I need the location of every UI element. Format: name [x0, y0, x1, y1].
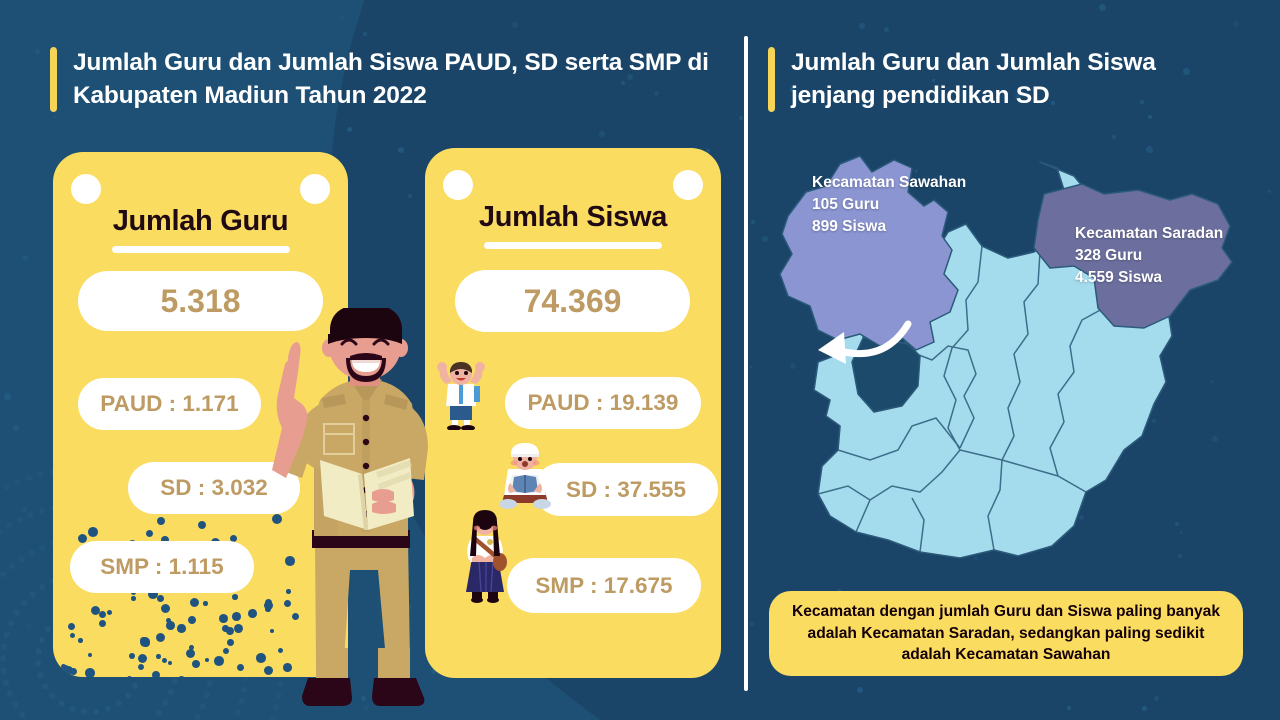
map-callout-sawahan: Kecamatan Sawahan 105 Guru 899 Siswa [812, 172, 966, 238]
siswa-smp-value: SMP : 17.675 [507, 558, 701, 613]
punch-hole-left-icon [71, 174, 101, 204]
saradan-district-name: Kecamatan Saradan [1075, 223, 1223, 245]
title-accent-bar [50, 47, 57, 112]
punch-hole-right-icon [673, 170, 703, 200]
card-heading: Jumlah Siswa [425, 201, 721, 234]
smp-student-illustration-icon [456, 508, 514, 603]
guru-smp-value: SMP : 1.115 [70, 541, 254, 593]
right-panel-title: Jumlah Guru dan Jumlah Siswa jenjang pen… [768, 47, 1238, 112]
heading-underline [484, 242, 662, 249]
saradan-student-count: 4.559 Siswa [1075, 267, 1223, 289]
card-heading: Jumlah Guru [53, 205, 348, 238]
sawahan-student-count: 899 Siswa [812, 216, 966, 238]
right-title-text: Jumlah Guru dan Jumlah Siswa jenjang pen… [791, 47, 1238, 112]
sd-student-illustration-icon [492, 443, 558, 513]
conclusion-text: Kecamatan dengan jumlah Guru dan Siswa p… [783, 601, 1229, 666]
siswa-sd-value: SD : 37.555 [534, 463, 718, 516]
punch-hole-right-icon [300, 174, 330, 204]
map-callout-saradan: Kecamatan Saradan 328 Guru 4.559 Siswa [1075, 223, 1223, 289]
vertical-divider [744, 36, 748, 691]
paud-student-illustration-icon [430, 360, 492, 430]
punch-hole-left-icon [443, 170, 473, 200]
guru-paud-value: PAUD : 1.171 [78, 378, 261, 430]
sawahan-district-name: Kecamatan Sawahan [812, 172, 966, 194]
siswa-paud-value: PAUD : 19.139 [505, 377, 701, 429]
sawahan-teacher-count: 105 Guru [812, 194, 966, 216]
left-panel-title: Jumlah Guru dan Jumlah Siswa PAUD, SD se… [50, 47, 730, 112]
conclusion-box: Kecamatan dengan jumlah Guru dan Siswa p… [769, 591, 1243, 676]
siswa-total-value: 74.369 [455, 270, 690, 332]
heading-underline [112, 246, 290, 253]
left-title-text: Jumlah Guru dan Jumlah Siswa PAUD, SD se… [73, 47, 730, 112]
saradan-teacher-count: 328 Guru [1075, 245, 1223, 267]
title-accent-bar [768, 47, 775, 112]
